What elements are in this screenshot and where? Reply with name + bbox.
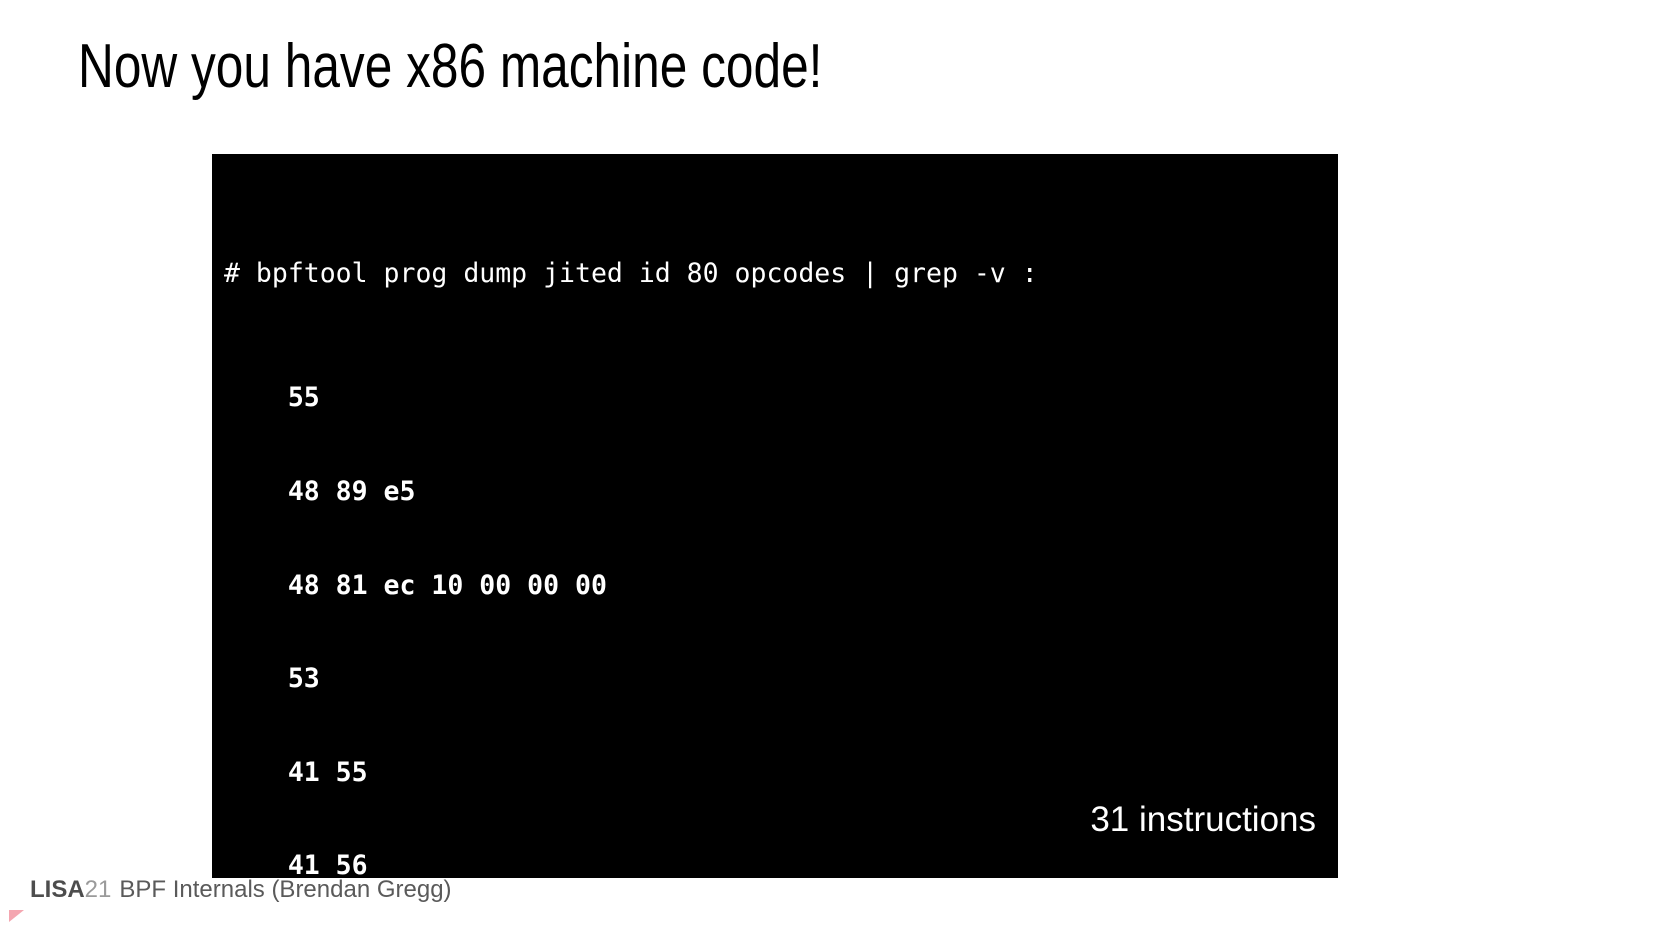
opcode-line: 41 55 — [224, 757, 1338, 788]
opcode-line: 41 56 — [224, 850, 1338, 878]
opcode-line: 53 — [224, 663, 1338, 694]
footer-subtitle: BPF Internals (Brendan Gregg) — [119, 876, 451, 904]
opcode-line: 55 — [224, 382, 1338, 413]
footer-year: 21 — [85, 876, 112, 904]
page-title: Now you have x86 machine code! — [78, 36, 822, 98]
terminal-output: # bpftool prog dump jited id 80 opcodes … — [224, 164, 1338, 878]
instruction-count-label: 31 instructions — [1090, 800, 1316, 840]
lisa-flag-icon — [9, 910, 24, 922]
terminal-panel: # bpftool prog dump jited id 80 opcodes … — [212, 154, 1338, 878]
terminal-command-line: # bpftool prog dump jited id 80 opcodes … — [224, 258, 1338, 289]
opcode-line: 48 81 ec 10 00 00 00 — [224, 570, 1338, 601]
opcode-line: 48 89 e5 — [224, 476, 1338, 507]
footer-brand: LISA — [30, 876, 85, 904]
footer: LISA 21 BPF Internals (Brendan Gregg) — [30, 876, 452, 904]
